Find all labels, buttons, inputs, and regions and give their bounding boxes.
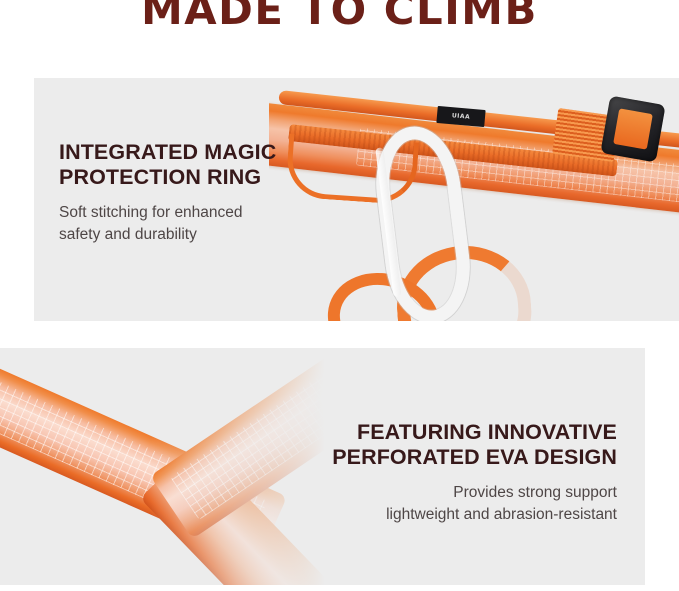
banner-title: MADE TO CLIMB	[0, 0, 679, 35]
feature-subcopy-one-line2: safety and durability	[59, 226, 197, 243]
feature-subcopy-two: Provides strong support lightweight and …	[287, 482, 617, 526]
harness-buckle	[600, 96, 665, 163]
banner-title-text: MADE TO CLIMB	[141, 0, 538, 33]
feature-subcopy-two-line1: Provides strong support	[453, 484, 617, 501]
feature-copy-block-one: INTEGRATED MAGIC PROTECTION RING Soft st…	[59, 140, 359, 246]
feature-copy-block-two: FEATURING INNOVATIVE PERFORATED EVA DESI…	[287, 420, 617, 526]
feature-subcopy-one: Soft stitching for enhanced safety and d…	[59, 202, 359, 246]
harness-care-label-text: UIAA	[452, 112, 471, 121]
feature-subcopy-two-line2: lightweight and abrasion-resistant	[386, 506, 617, 523]
feature-headline-one: INTEGRATED MAGIC PROTECTION RING	[59, 140, 359, 190]
feature-headline-two: FEATURING INNOVATIVE PERFORATED EVA DESI…	[287, 420, 617, 470]
feature-headline-two-line2: PERFORATED EVA DESIGN	[332, 445, 617, 469]
feature-headline-one-line2: PROTECTION RING	[59, 165, 261, 189]
feature-panel-magic-protection-ring: UIAA INTEGRATED MAGIC PROTECTION RING So…	[34, 78, 679, 321]
product-photo-eva-waistbelt	[0, 348, 330, 585]
feature-panel-perforated-eva-design: FEATURING INNOVATIVE PERFORATED EVA DESI…	[0, 348, 645, 585]
feature-subcopy-one-line1: Soft stitching for enhanced	[59, 204, 243, 221]
feature-headline-one-line1: INTEGRATED MAGIC	[59, 140, 276, 164]
feature-headline-two-line1: FEATURING INNOVATIVE	[357, 420, 617, 444]
